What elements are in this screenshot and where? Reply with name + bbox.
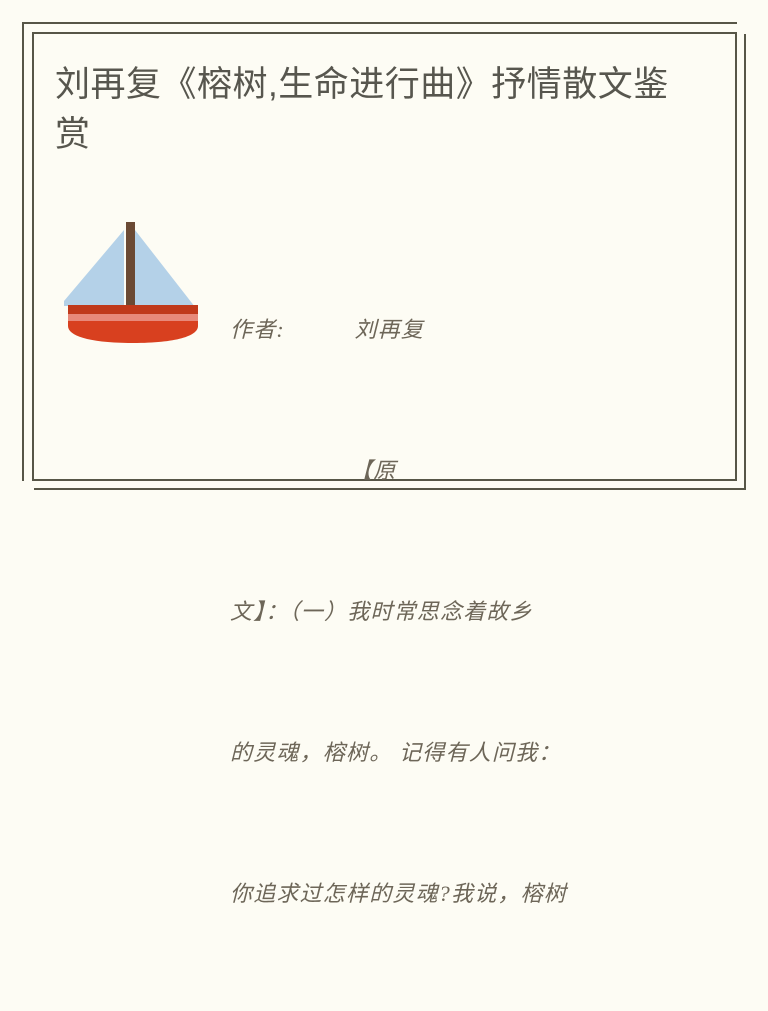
body-line: 你追求过怎样的灵魂?我说，榕树 (230, 870, 660, 917)
right-sail-shape (135, 230, 195, 307)
hull-body (68, 321, 198, 343)
sailboat-illustration (60, 200, 206, 350)
sailboat-icon (60, 200, 206, 350)
mast-shape (126, 222, 135, 312)
hull-deck-band (68, 305, 198, 314)
hull-stripe (68, 314, 198, 321)
article-card: 刘再复《榕树,生命进行曲》抒情散文鉴赏 作者: 刘再复 【原 文】：（一）我时常… (0, 0, 768, 510)
page-title: 刘再复《榕树,生命进行曲》抒情散文鉴赏 (55, 60, 695, 160)
body-line: 【原 (230, 447, 660, 494)
body-line: 的灵魂，榕树。 记得有人问我： (230, 729, 660, 776)
frame-corner-mask-bottom-left (22, 481, 34, 492)
frame-corner-mask-top-right (737, 22, 748, 34)
left-sail-shape (64, 230, 124, 306)
body-line: 文】：（一）我时常思念着故乡 (230, 588, 660, 635)
body-line: 作者: 刘再复 (230, 306, 660, 353)
article-body: 作者: 刘再复 【原 文】：（一）我时常思念着故乡 的灵魂，榕树。 记得有人问我… (230, 212, 660, 1011)
